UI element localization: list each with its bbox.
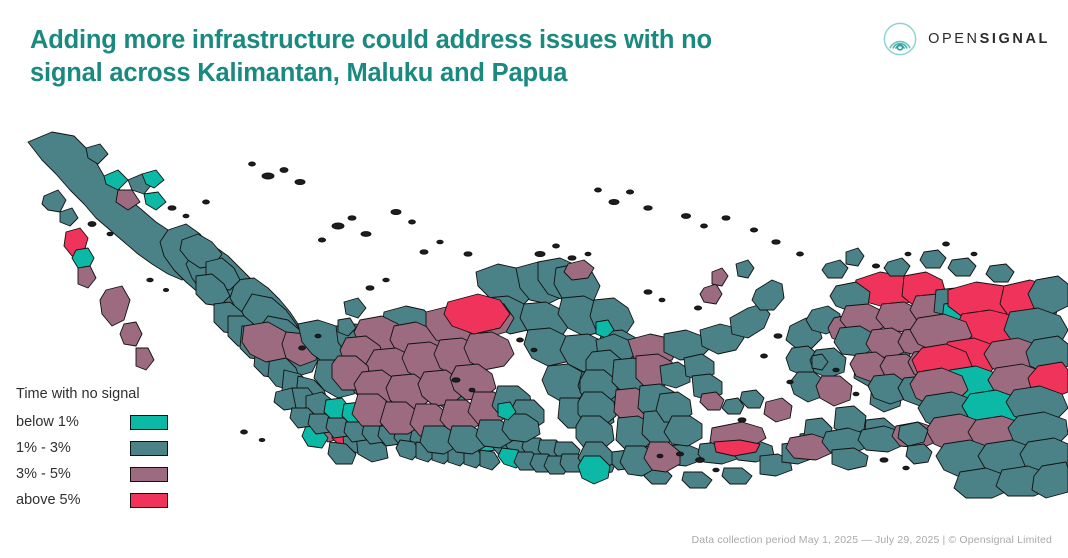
legend-swatch-above-5 bbox=[130, 493, 168, 508]
opensignal-logo: OPEN SIGNAL bbox=[883, 22, 1050, 56]
map-legend: Time with no signal below 1% 1% - 3% 3% … bbox=[16, 386, 196, 515]
header: Adding more infrastructure could address… bbox=[0, 0, 1068, 110]
legend-item-below-1: below 1% bbox=[16, 411, 168, 433]
opensignal-wave-icon bbox=[883, 22, 917, 56]
legend-title: Time with no signal bbox=[16, 386, 196, 403]
legend-item-above-5: above 5% bbox=[16, 489, 168, 511]
footer-attribution: Data collection period May 1, 2025 — Jul… bbox=[691, 534, 1052, 546]
legend-label-1-3: 1% - 3% bbox=[16, 441, 71, 456]
legend-item-3-5: 3% - 5% bbox=[16, 463, 168, 485]
legend-swatch-1-3 bbox=[130, 441, 168, 456]
legend-item-1-3: 1% - 3% bbox=[16, 437, 168, 459]
page-title: Adding more infrastructure could address… bbox=[30, 24, 850, 89]
legend-label-below-1: below 1% bbox=[16, 415, 79, 430]
legend-swatch-3-5 bbox=[130, 467, 168, 482]
legend-label-3-5: 3% - 5% bbox=[16, 467, 71, 482]
page-title-line-2: signal across Kalimantan, Maluku and Pap… bbox=[30, 57, 850, 90]
logo-text-open: OPEN bbox=[928, 32, 980, 47]
logo-text-signal: SIGNAL bbox=[980, 32, 1050, 47]
legend-swatch-below-1 bbox=[130, 415, 168, 430]
page-title-line-1: Adding more infrastructure could address… bbox=[30, 24, 850, 57]
opensignal-logo-text: OPEN SIGNAL bbox=[928, 32, 1050, 47]
legend-label-above-5: above 5% bbox=[16, 493, 81, 508]
infographic-page: Adding more infrastructure could address… bbox=[0, 0, 1068, 558]
